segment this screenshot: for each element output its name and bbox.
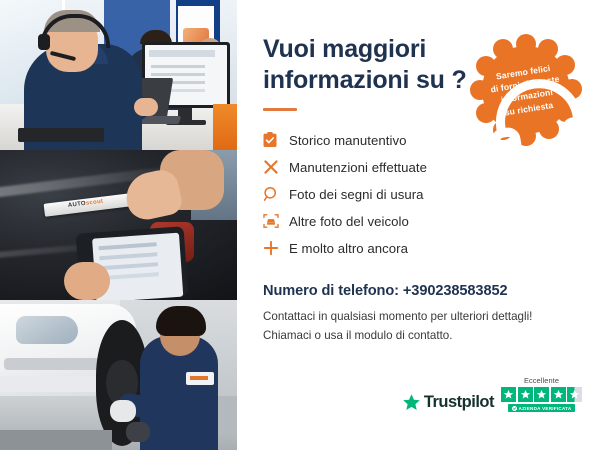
mechanic-glove-upper — [110, 400, 136, 422]
star-full — [534, 387, 549, 402]
content-panel: Vuoi maggiori informazioni su ? — [237, 0, 600, 450]
mechanic-uniform-badge — [186, 372, 214, 385]
photo-wheel-check — [0, 300, 237, 450]
headline-line-2: informazioni su ? — [263, 66, 467, 94]
contact-subtext-line-1: Contattaci in qualsiasi momento per ulte… — [263, 308, 574, 327]
feature-item-altre-foto: Altre foto del veicolo — [263, 208, 574, 234]
advertisement-banner: AUTOscout Vuoi maggior — [0, 0, 600, 450]
feature-label: Foto dei segni di usura — [289, 187, 424, 202]
headset-icon — [473, 56, 600, 189]
star-full — [501, 387, 516, 402]
magnifier-icon — [263, 186, 289, 202]
photo-vehicle-inspection: AUTOscout — [0, 150, 237, 300]
car-grille — [4, 358, 100, 370]
wrench-cross-icon — [263, 159, 289, 175]
clipboard-check-icon — [263, 132, 289, 148]
feature-label: E molto altro ancora — [289, 241, 408, 256]
photo-column: AUTOscout — [0, 0, 237, 450]
rating-label: Eccellente — [524, 376, 559, 385]
star-full — [551, 387, 566, 402]
star-half — [567, 387, 582, 402]
feature-label: Altre foto del veicolo — [289, 214, 409, 229]
mechanic-glove-lower — [126, 422, 150, 442]
plus-icon — [263, 240, 289, 256]
trustpilot-widget[interactable]: Trustpilot Eccellente AZIENDA VERIFICA — [402, 376, 582, 412]
inspector-hand-lower — [64, 262, 110, 300]
title-underline-rule — [263, 108, 297, 111]
callout-badge: Saremo felici di fornirti queste informa… — [468, 32, 584, 148]
vehicle-scan-icon — [263, 213, 289, 229]
page-title: Vuoi maggiori informazioni su ? — [263, 34, 483, 95]
trustpilot-wordmark-text: Trustpilot — [424, 393, 494, 412]
ruler-brand-label: AUTOscout — [68, 199, 104, 209]
verified-check-icon — [512, 406, 517, 411]
star-full — [518, 387, 533, 402]
verified-label: AZIENDA VERIFICATA — [519, 406, 572, 411]
headline-line-1: Vuoi maggiori — [263, 35, 426, 63]
phone-number-label[interactable]: Numero di telefono: +390238583852 — [263, 283, 574, 299]
feature-item-altro-ancora: E molto altro ancora — [263, 235, 574, 261]
rating-stars — [501, 387, 582, 402]
feature-label: Storico manutentivo — [289, 133, 407, 148]
trustpilot-rating: Eccellente AZIENDA VERIFICATA — [501, 376, 582, 412]
verified-company-badge: AZIENDA VERIFICATA — [508, 404, 576, 412]
agent-hand — [134, 98, 158, 116]
trustpilot-star-icon — [402, 393, 421, 412]
mechanic-hair — [156, 306, 206, 336]
feature-item-foto-usura: Foto dei segni di usura — [263, 181, 574, 207]
photo-call-center — [0, 0, 237, 150]
agent-headset-earcup — [38, 34, 50, 50]
car-headlight — [16, 316, 78, 344]
feature-label: Manutenzioni effettuate — [289, 160, 427, 175]
contact-subtext-line-2: Chiamaci o usa il modulo di contatto. — [263, 327, 574, 346]
contact-subtext: Contattaci in qualsiasi momento per ulte… — [263, 308, 574, 346]
orange-object — [213, 104, 237, 150]
car-lift-ramp — [0, 430, 112, 450]
keyboard — [18, 128, 104, 142]
trustpilot-logo: Trustpilot — [402, 393, 494, 412]
